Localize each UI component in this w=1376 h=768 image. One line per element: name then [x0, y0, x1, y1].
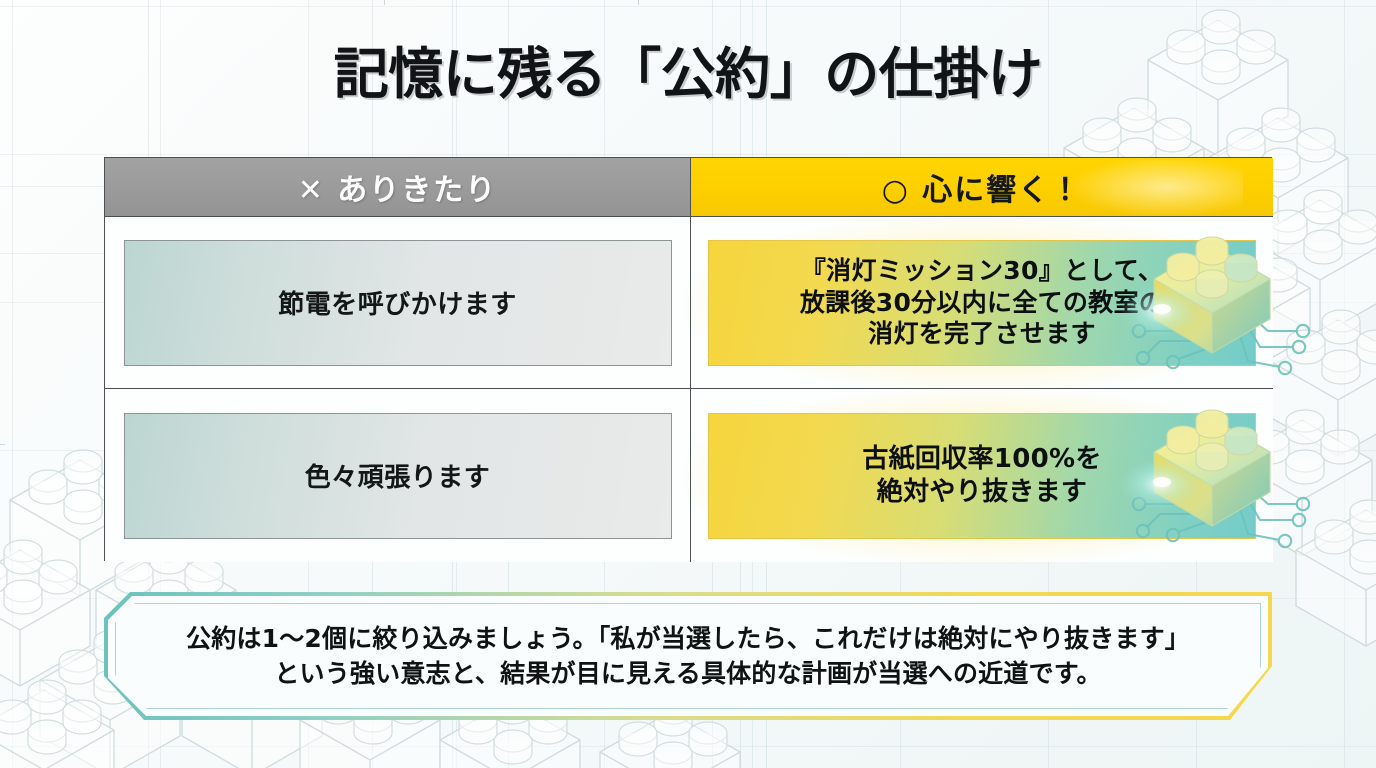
good-example-line: 『消灯ミッション30』として、: [801, 256, 1163, 285]
bad-example-chip: 色々頑張ります: [124, 413, 672, 539]
table-row: 節電を呼びかけます: [105, 217, 691, 389]
good-example-line: 絶対やり抜きます: [877, 477, 1087, 507]
good-example-line: 放課後30分以内に全ての教室の: [800, 288, 1164, 317]
table-header-good: ○ 心に響く！: [691, 158, 1273, 217]
good-example-text: 『消灯ミッション30』として、 放課後30分以内に全ての教室の 消灯を完了させま…: [788, 255, 1176, 350]
footer-line: 公約は1〜2個に絞り込みましょう。「私が当選したら、これだけは絶対にやり抜きます…: [186, 621, 1190, 657]
table-header-bad: ✕ ありきたり: [105, 158, 691, 217]
table-header-bad-label: ✕ ありきたり: [298, 165, 498, 209]
table-row: 古紙回収率100%を 絶対やり抜きます: [691, 389, 1273, 562]
good-example-chip-body: 『消灯ミッション30』として、 放課後30分以内に全ての教室の 消灯を完了させま…: [708, 240, 1256, 366]
slide-title: 記憶に残る「公約」の仕掛け: [0, 44, 1376, 106]
good-example-chip: 古紙回収率100%を 絶対やり抜きます: [708, 413, 1256, 539]
table-row: 『消灯ミッション30』として、 放課後30分以内に全ての教室の 消灯を完了させま…: [691, 217, 1273, 389]
table-header-good-label: ○ 心に響く！: [882, 165, 1083, 209]
footer-text: 公約は1〜2個に絞り込みましょう。「私が当選したら、これだけは絶対にやり抜きます…: [104, 592, 1272, 720]
good-example-chip: 『消灯ミッション30』として、 放課後30分以内に全ての教室の 消灯を完了させま…: [708, 240, 1256, 366]
comparison-table: ✕ ありきたり ○ 心に響く！ 節電を呼びかけます 『消灯ミッション30』として…: [104, 157, 1272, 561]
bad-example-chip: 節電を呼びかけます: [124, 240, 672, 366]
good-example-chip-body: 古紙回収率100%を 絶対やり抜きます: [708, 413, 1256, 539]
bad-example-text: 色々頑張ります: [305, 457, 491, 494]
good-example-text: 古紙回収率100%を 絶対やり抜きます: [850, 443, 1113, 509]
good-example-line: 消灯を完了させます: [868, 319, 1096, 348]
footer-line: という強い意志と、結果が目に見える具体的な計画が当選への近道です。: [274, 656, 1101, 692]
bad-example-text: 節電を呼びかけます: [278, 284, 517, 321]
table-row: 色々頑張ります: [105, 389, 691, 562]
good-example-line: 古紙回収率100%を: [862, 444, 1101, 474]
footer-callout: 公約は1〜2個に絞り込みましょう。「私が当選したら、これだけは絶対にやり抜きます…: [104, 592, 1272, 720]
